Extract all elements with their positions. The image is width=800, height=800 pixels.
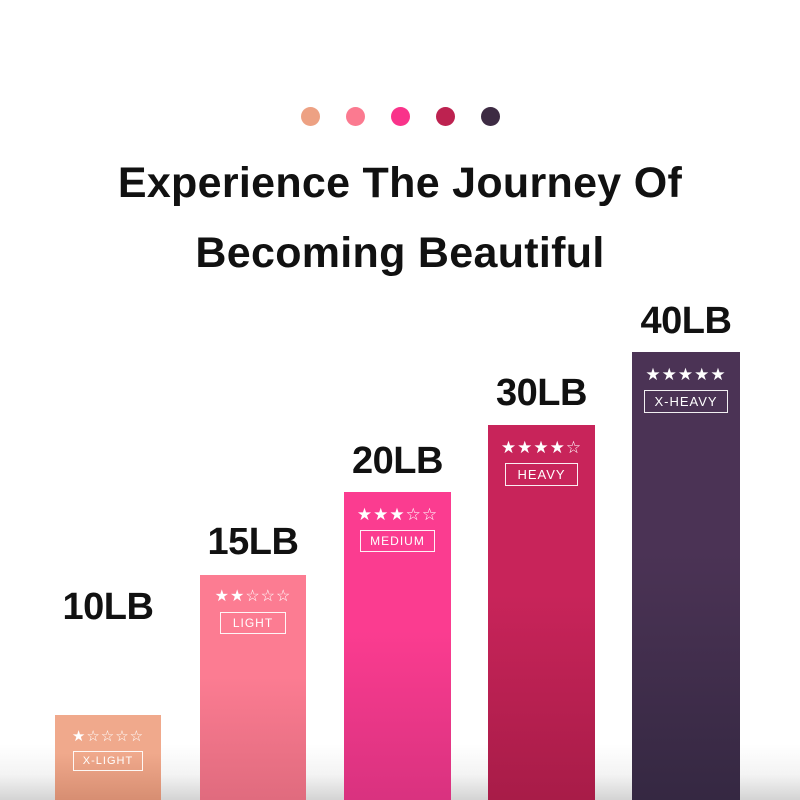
strength-badge: LIGHT bbox=[220, 612, 286, 634]
star-rating: ★★★★☆ bbox=[501, 439, 582, 456]
star-empty-icon: ☆ bbox=[276, 589, 291, 605]
dot-x-heavy bbox=[481, 107, 500, 126]
star-rating: ★☆☆☆☆ bbox=[72, 729, 144, 744]
star-rating: ★★★☆☆ bbox=[357, 506, 438, 523]
strength-badge: MEDIUM bbox=[360, 530, 435, 552]
star-empty-icon: ☆ bbox=[86, 729, 100, 744]
star-filled-icon: ★ bbox=[662, 366, 678, 383]
bar-body[interactable]: ★☆☆☆☆X-LIGHT bbox=[55, 715, 161, 800]
bar-body[interactable]: ★★☆☆☆LIGHT bbox=[200, 575, 306, 800]
strength-badge: X-LIGHT bbox=[73, 751, 143, 771]
bar-value-label: 20LB bbox=[344, 442, 451, 480]
star-filled-icon: ★ bbox=[710, 366, 726, 383]
star-filled-icon: ★ bbox=[645, 366, 661, 383]
star-filled-icon: ★ bbox=[230, 589, 245, 605]
bar-value-label: 10LB bbox=[55, 588, 161, 626]
bar-column[interactable]: 30LB★★★★☆HEAVY bbox=[488, 425, 595, 800]
bar-value-label: 15LB bbox=[200, 523, 306, 561]
headline-line-2: Becoming Beautiful bbox=[0, 218, 800, 288]
star-empty-icon: ☆ bbox=[115, 729, 129, 744]
strength-badge: X-HEAVY bbox=[644, 390, 727, 413]
star-filled-icon: ★ bbox=[389, 506, 405, 523]
bar-column[interactable]: 10LB★☆☆☆☆X-LIGHT bbox=[55, 715, 161, 800]
star-filled-icon: ★ bbox=[215, 589, 230, 605]
bar-value-label: 30LB bbox=[488, 374, 595, 412]
bar-body[interactable]: ★★★★★X-HEAVY bbox=[632, 352, 740, 800]
bar-column[interactable]: 20LB★★★☆☆MEDIUM bbox=[344, 492, 451, 800]
bar-body[interactable]: ★★★★☆HEAVY bbox=[488, 425, 595, 800]
bar-column[interactable]: 40LB★★★★★X-HEAVY bbox=[632, 352, 740, 800]
dot-heavy bbox=[436, 107, 455, 126]
bar-body[interactable]: ★★★☆☆MEDIUM bbox=[344, 492, 451, 800]
star-filled-icon: ★ bbox=[694, 366, 710, 383]
star-empty-icon: ☆ bbox=[406, 506, 422, 523]
palette-dot-row bbox=[0, 107, 800, 126]
star-filled-icon: ★ bbox=[678, 366, 694, 383]
bar-value-label: 40LB bbox=[632, 302, 740, 340]
star-empty-icon: ☆ bbox=[261, 589, 276, 605]
infographic-canvas: Experience The Journey Of Becoming Beaut… bbox=[0, 0, 800, 800]
star-filled-icon: ★ bbox=[533, 439, 549, 456]
dot-light bbox=[346, 107, 365, 126]
star-filled-icon: ★ bbox=[373, 506, 389, 523]
star-filled-icon: ★ bbox=[72, 729, 86, 744]
star-filled-icon: ★ bbox=[550, 439, 566, 456]
star-filled-icon: ★ bbox=[517, 439, 533, 456]
strength-badge: HEAVY bbox=[505, 463, 577, 486]
star-rating: ★★★★★ bbox=[645, 366, 726, 383]
star-filled-icon: ★ bbox=[357, 506, 373, 523]
bar-column[interactable]: 15LB★★☆☆☆LIGHT bbox=[200, 575, 306, 800]
headline-line-1: Experience The Journey Of bbox=[0, 148, 800, 218]
page-title: Experience The Journey Of Becoming Beaut… bbox=[0, 148, 800, 288]
dot-medium bbox=[391, 107, 410, 126]
star-empty-icon: ☆ bbox=[245, 589, 260, 605]
star-empty-icon: ☆ bbox=[566, 439, 582, 456]
star-empty-icon: ☆ bbox=[130, 729, 144, 744]
star-empty-icon: ☆ bbox=[422, 506, 438, 523]
dot-x-light bbox=[301, 107, 320, 126]
star-empty-icon: ☆ bbox=[101, 729, 115, 744]
star-filled-icon: ★ bbox=[501, 439, 517, 456]
star-rating: ★★☆☆☆ bbox=[215, 589, 292, 605]
